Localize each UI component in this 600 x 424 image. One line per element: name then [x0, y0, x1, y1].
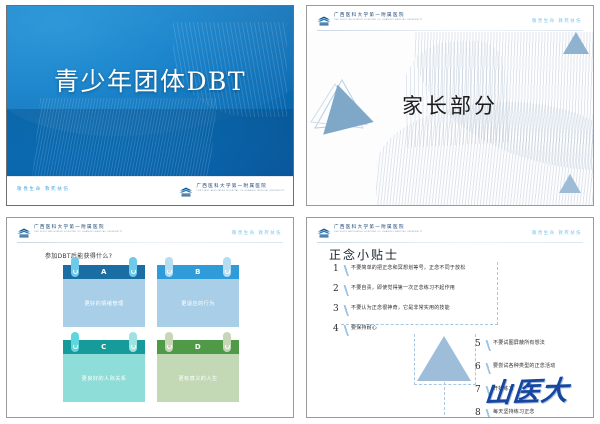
tip-number: 7: [475, 386, 484, 395]
hospital-crest-icon: [179, 183, 193, 194]
tip-slash-icon: [342, 325, 350, 336]
list-item: 1 不要简单的把正念和冥想划等号，正念不同于放松: [333, 265, 513, 276]
slide-canvas-title: 青少年团体DBT 敬畏生命 救死扶伤 广西医科大学第一附属医院: [6, 5, 294, 206]
tip-slash-icon: [484, 386, 492, 397]
title-footer-bar: 敬畏生命 救死扶伤 广西医科大学第一附属医院 THE FIRST AFFILIA…: [7, 176, 293, 205]
tip-slash-icon: [484, 340, 492, 351]
hospital-name-en: THE FIRST AFFILIATED HOSPITAL OF GUANGXI…: [196, 190, 285, 192]
hospital-name-en: THE FIRST AFFILIATED HOSPITAL OF GUANGXI…: [334, 19, 423, 21]
tip-slash-icon: [342, 285, 350, 296]
clip-pin-icon: [223, 332, 231, 352]
page-title: 正念小贴士: [329, 246, 399, 263]
header-divider: [317, 30, 583, 31]
benefit-card-text: 更好的情绪管理: [63, 279, 145, 327]
hospital-logo: 广西医科大学第一附属医院 THE FIRST AFFILIATED HOSPIT…: [317, 12, 423, 23]
header-divider: [317, 242, 583, 243]
slide-header: 广西医科大学第一附属医院 THE FIRST AFFILIATED HOSPIT…: [307, 218, 593, 244]
tip-number: 1: [333, 265, 342, 274]
slide-thumbnail-mindfulness[interactable]: 广西医科大学第一附属医院 THE FIRST AFFILIATED HOSPIT…: [300, 212, 600, 424]
tip-slash-icon: [484, 409, 492, 418]
hospital-name-cn: 广西医科大学第一附属医院: [196, 185, 285, 190]
hospital-motto: 敬畏生命 救死扶伤: [17, 186, 70, 192]
list-item: 2 不要自责，即使觉得第一次正念练习不起作用: [333, 285, 513, 296]
clip-pin-icon: [71, 332, 79, 352]
tip-slash-icon: [342, 265, 350, 276]
clip-pin-icon: [165, 332, 173, 352]
list-item: 5 不要试图屏蔽所有想法: [475, 340, 594, 351]
hospital-name-en: THE FIRST AFFILIATED HOSPITAL OF GUANGXI…: [34, 231, 123, 233]
slide-header: 广西医科大学第一附属医院 THE FIRST AFFILIATED HOSPIT…: [7, 218, 293, 244]
tips-list-left: 1 不要简单的把正念和冥想划等号，正念不同于放松 2 不要自责，即使觉得第一次正…: [333, 265, 513, 345]
header-divider: [17, 242, 283, 243]
hospital-logo-text: 广西医科大学第一附属医院 THE FIRST AFFILIATED HOSPIT…: [196, 185, 285, 193]
benefit-card-c[interactable]: C 更良好的人际关系: [63, 340, 145, 402]
list-item: 4 要保持耐心: [333, 325, 513, 336]
hospital-name-cn: 广西医科大学第一附属医院: [334, 226, 423, 231]
benefit-card-a[interactable]: A 更好的情绪管理: [63, 265, 145, 327]
hospital-logo: 广西医科大学第一附属医院 THE FIRST AFFILIATED HOSPIT…: [179, 183, 285, 194]
tip-text: 不要试图屏蔽所有想法: [493, 340, 545, 346]
tip-text: 不要简单的把正念和冥想划等号，正念不同于放松: [351, 265, 465, 271]
hospital-logo-text: 广西医科大学第一附属医院 THE FIRST AFFILIATED HOSPIT…: [34, 226, 123, 234]
clip-pin-icon: [223, 257, 231, 277]
slide-thumbnail-grid: 青少年团体DBT 敬畏生命 救死扶伤 广西医科大学第一附属医院: [0, 0, 600, 424]
triangle-stem-line: [444, 382, 445, 418]
page-title: 青少年团体DBT: [7, 62, 293, 98]
benefit-card-grid: A 更好的情绪管理 B 更适应的行为 C 更良好的人际关系: [63, 265, 239, 402]
page-title: 家长部分: [307, 90, 593, 120]
list-item: 3 不要认为正念很神奇，它是非常实用的技能: [333, 305, 513, 316]
tip-text: 不要自责，即使觉得第一次正念练习不起作用: [351, 285, 455, 291]
hospital-crest-icon: [317, 12, 331, 23]
slide-thumbnail-section[interactable]: 家长部分 广西医科大学第一附属医院 THE FIRST AFFILIATED H: [300, 0, 600, 212]
slide-canvas-benefits: 广西医科大学第一附属医院 THE FIRST AFFILIATED HOSPIT…: [6, 217, 294, 418]
hospital-logo: 广西医科大学第一附属医院 THE FIRST AFFILIATED HOSPIT…: [17, 224, 123, 235]
title-stripe-pattern-bottom: [31, 98, 217, 182]
tip-text: 每天坚持练习正念: [493, 409, 535, 415]
benefit-card-d[interactable]: D 更有意义的人生: [157, 340, 239, 402]
hospital-crest-icon: [17, 224, 31, 235]
benefit-card-text: 更适应的行为: [157, 279, 239, 327]
slide-canvas-section: 家长部分 广西医科大学第一附属医院 THE FIRST AFFILIATED H: [306, 5, 594, 206]
hospital-logo-text: 广西医科大学第一附属医院 THE FIRST AFFILIATED HOSPIT…: [334, 226, 423, 234]
tip-number: 2: [333, 285, 342, 294]
hospital-crest-icon: [317, 224, 331, 235]
slide-canvas-mindfulness: 广西医科大学第一附属医院 THE FIRST AFFILIATED HOSPIT…: [306, 217, 594, 418]
tip-number: 8: [475, 409, 484, 418]
list-item: 6 要尝试各种类型的正念活动: [475, 363, 594, 374]
section-triangle-top-right: [563, 32, 589, 54]
tip-text: 不要认为正念很神奇，它是非常实用的技能: [351, 305, 450, 311]
hospital-logo-text: 广西医科大学第一附属医院 THE FIRST AFFILIATED HOSPIT…: [334, 14, 423, 22]
hospital-motto: 敬畏生命 救死扶伤: [532, 18, 582, 24]
hospital-name-cn: 广西医科大学第一附属医院: [334, 14, 423, 19]
tips-list-right: 5 不要试图屏蔽所有想法 6 要尝试各种类型的正念活动 7 开始练习 8: [475, 340, 594, 418]
list-item: 8 每天坚持练习正念: [475, 409, 594, 418]
benefit-card-b[interactable]: B 更适应的行为: [157, 265, 239, 327]
tip-number: 5: [475, 340, 484, 349]
benefit-card-text: 更有意义的人生: [157, 354, 239, 402]
tip-number: 3: [333, 305, 342, 314]
hospital-name-en: THE FIRST AFFILIATED HOSPITAL OF GUANGXI…: [334, 231, 423, 233]
tip-number: 4: [333, 325, 342, 334]
slide-header: 广西医科大学第一附属医院 THE FIRST AFFILIATED HOSPIT…: [307, 6, 593, 32]
tip-text: 要尝试各种类型的正念活动: [493, 363, 555, 369]
tip-slash-icon: [484, 363, 492, 374]
tip-text: 要保持耐心: [351, 325, 377, 331]
tip-number: 6: [475, 363, 484, 372]
clip-pin-icon: [71, 257, 79, 277]
tip-text: 开始练习: [493, 386, 514, 392]
hospital-motto: 敬畏生命 救死扶伤: [232, 230, 282, 236]
hospital-motto: 敬畏生命 救死扶伤: [532, 230, 582, 236]
list-item: 7 开始练习: [475, 386, 594, 397]
hospital-name-cn: 广西医科大学第一附属医院: [34, 226, 123, 231]
section-triangle-bottom-right: [559, 174, 581, 193]
clip-pin-icon: [129, 257, 137, 277]
tip-slash-icon: [342, 305, 350, 316]
slide-thumbnail-benefits[interactable]: 广西医科大学第一附属医院 THE FIRST AFFILIATED HOSPIT…: [0, 212, 300, 424]
clip-pin-icon: [165, 257, 173, 277]
slide-thumbnail-title[interactable]: 青少年团体DBT 敬畏生命 救死扶伤 广西医科大学第一附属医院: [0, 0, 300, 212]
clip-pin-icon: [129, 332, 137, 352]
hospital-logo: 广西医科大学第一附属医院 THE FIRST AFFILIATED HOSPIT…: [317, 224, 423, 235]
benefit-card-text: 更良好的人际关系: [63, 354, 145, 402]
